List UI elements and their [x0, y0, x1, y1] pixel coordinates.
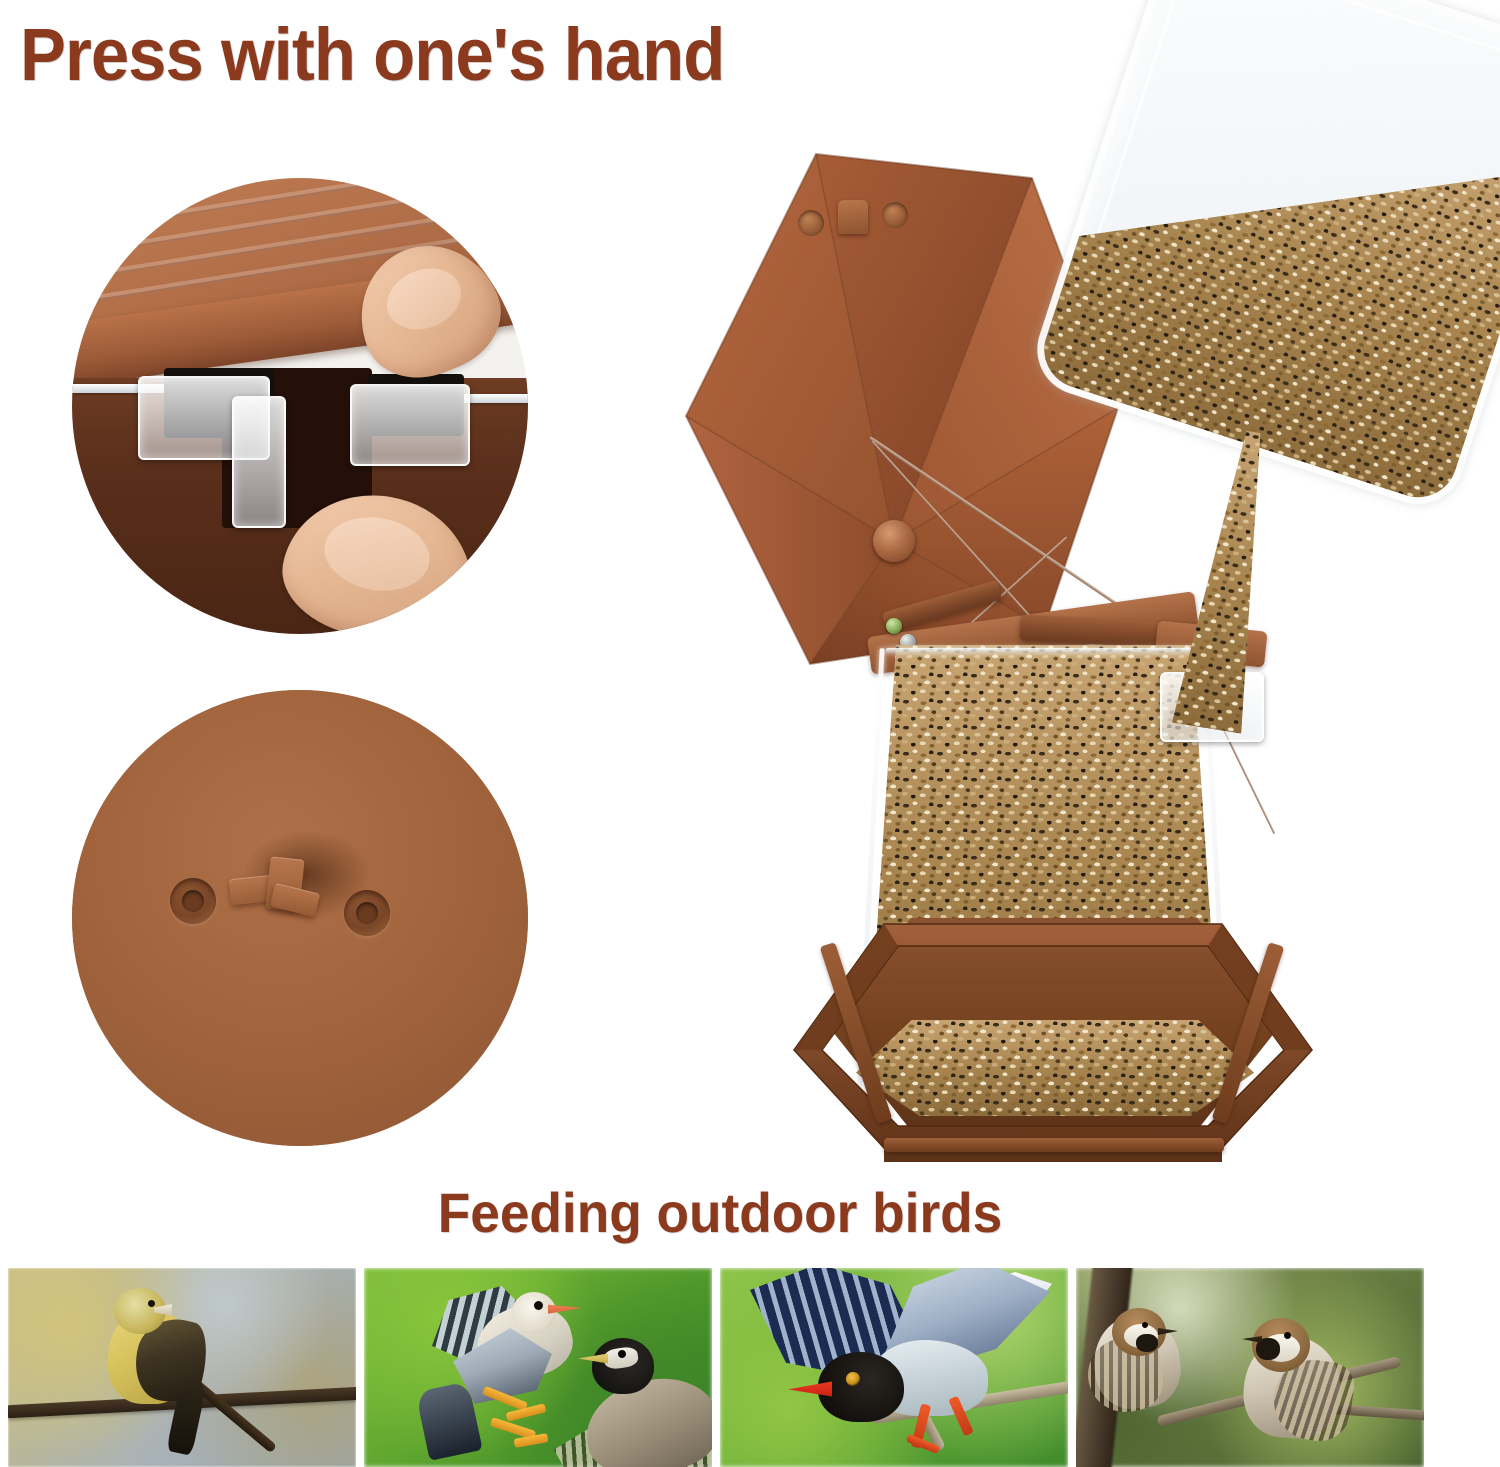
- inset-lid-underside-detail: [72, 690, 528, 1146]
- leg-segment: [482, 1386, 528, 1412]
- inset-press-detail: [72, 178, 528, 634]
- hopper-edge-top: [886, 648, 1198, 653]
- feeding-tray: [788, 900, 1318, 1165]
- bird-photo-strip: [8, 1268, 1424, 1467]
- product-photo: [600, 0, 1500, 1190]
- eyelet-right: [344, 890, 390, 936]
- clear-clip-left-stem: [232, 396, 286, 528]
- bird-photo-greenfinch: [8, 1268, 356, 1467]
- sparrow2-eye: [1284, 1332, 1291, 1339]
- pivot-screw-green: [886, 618, 902, 634]
- clear-clip-right: [350, 384, 470, 466]
- bird2-eye: [618, 1350, 626, 1358]
- sparrow1-eye: [1142, 1322, 1148, 1328]
- bird-photo-starlings: [364, 1268, 712, 1467]
- bird1-eye: [534, 1301, 543, 1310]
- perch-front: [884, 1138, 1224, 1152]
- bird-photo-sparrows: [1076, 1268, 1424, 1467]
- section-caption: Feeding outdoor birds: [36, 1180, 1404, 1245]
- container-body: [1025, 0, 1500, 516]
- bird1-legs: [472, 1386, 548, 1456]
- roof-center-hub: [873, 520, 915, 562]
- bird-photo-blue-magpie: [720, 1268, 1068, 1467]
- roof-fittings: [798, 200, 908, 240]
- sparrow1-bib: [1136, 1334, 1158, 1352]
- roof-center-knob: [838, 200, 868, 234]
- roof-bolt-right: [882, 202, 908, 228]
- bird-eye: [148, 1300, 155, 1307]
- bird-eye: [846, 1372, 860, 1386]
- roof-bolt-left: [798, 210, 824, 236]
- eyelet-left: [170, 878, 216, 924]
